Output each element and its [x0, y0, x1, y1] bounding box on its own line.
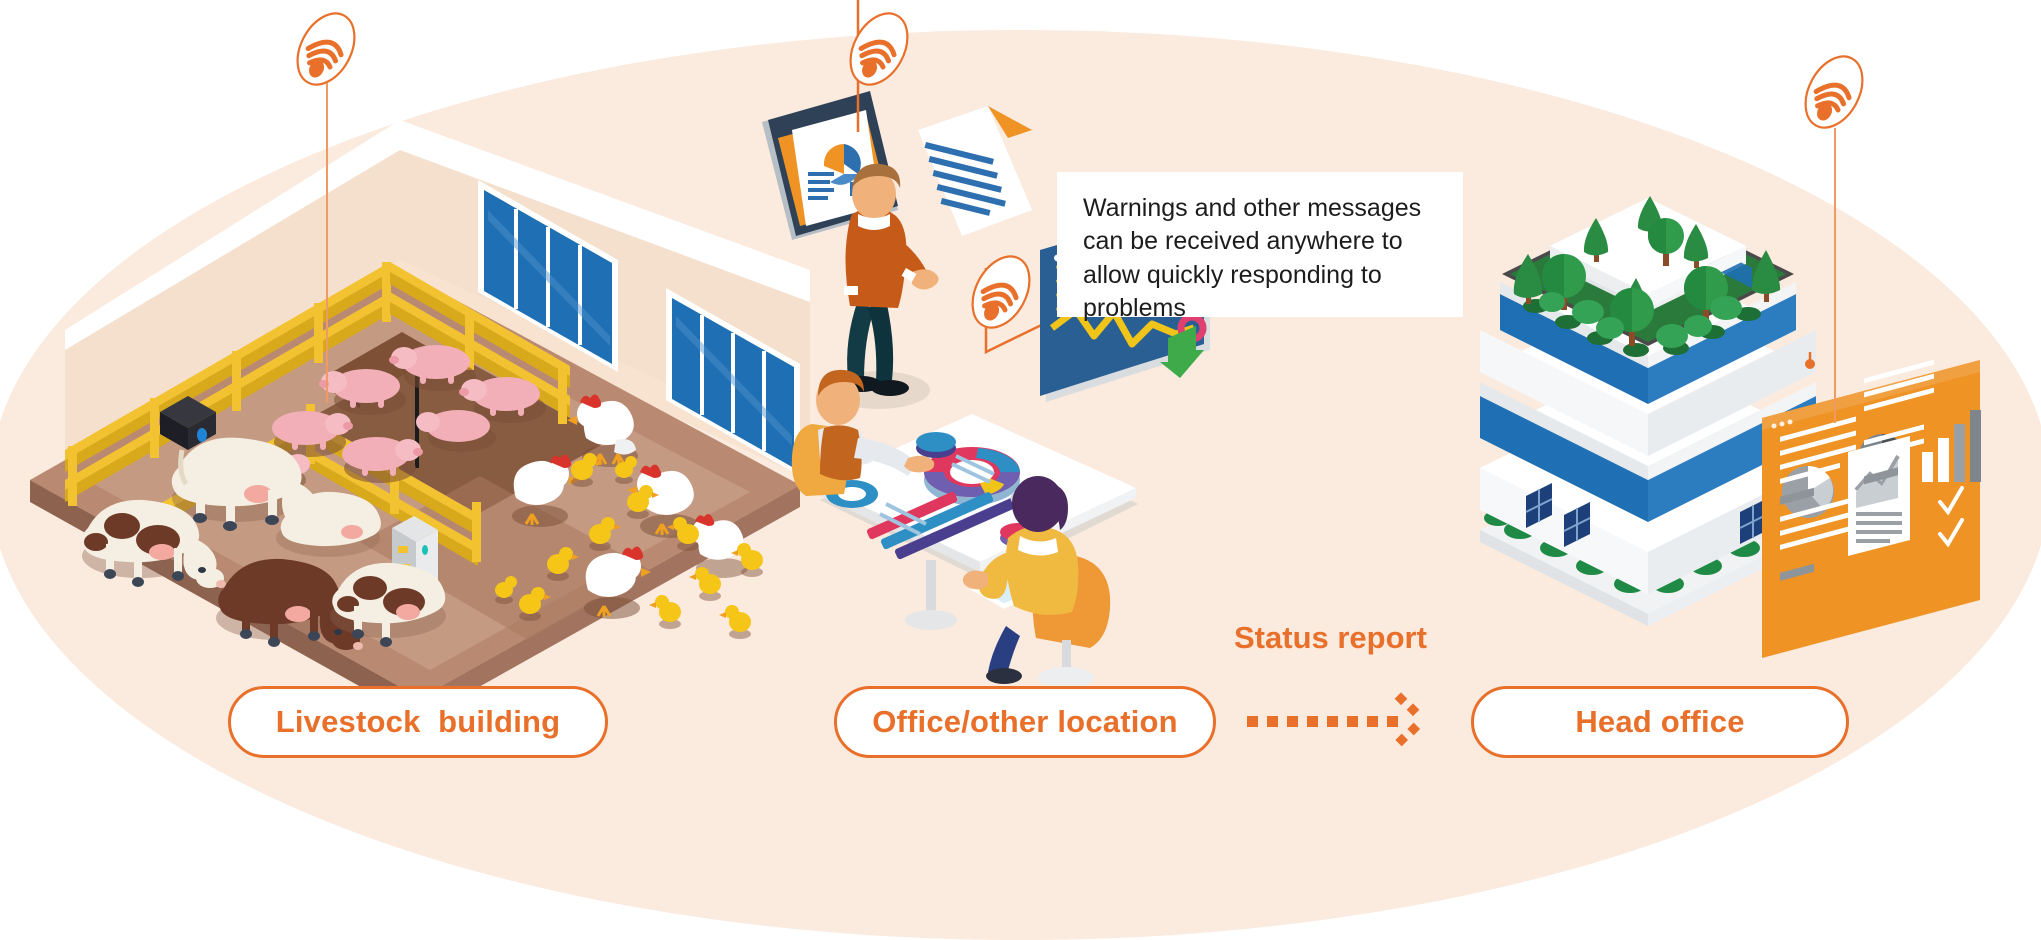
callout-text: Warnings and other messages can be recei…: [1083, 194, 1421, 322]
status-report-label: Status report: [1234, 620, 1427, 656]
status-report-arrowhead: [1395, 688, 1443, 752]
report-document: [918, 106, 1032, 236]
wifi-office-top: [843, 5, 915, 100]
head-office-scene: 29%: [1440, 60, 2000, 660]
wifi-office-screen: [965, 248, 1037, 343]
status-report-dotted-line: [1247, 714, 1407, 728]
label-head-office-text: Head office: [1575, 704, 1744, 740]
label-office-location[interactable]: Office/other location: [834, 686, 1216, 758]
wifi-livestock: [290, 5, 362, 100]
label-office-text: Office/other location: [872, 704, 1178, 740]
callout-message: Warnings and other messages can be recei…: [1057, 172, 1463, 317]
infographic-canvas: 29%: [0, 0, 2041, 933]
label-livestock-building[interactable]: Livestock building: [228, 686, 608, 758]
livestock-building-scene: [10, 150, 830, 670]
wifi-head-office: [1798, 48, 1870, 143]
label-livestock-text: Livestock building: [276, 704, 561, 740]
label-head-office[interactable]: Head office: [1471, 686, 1849, 758]
